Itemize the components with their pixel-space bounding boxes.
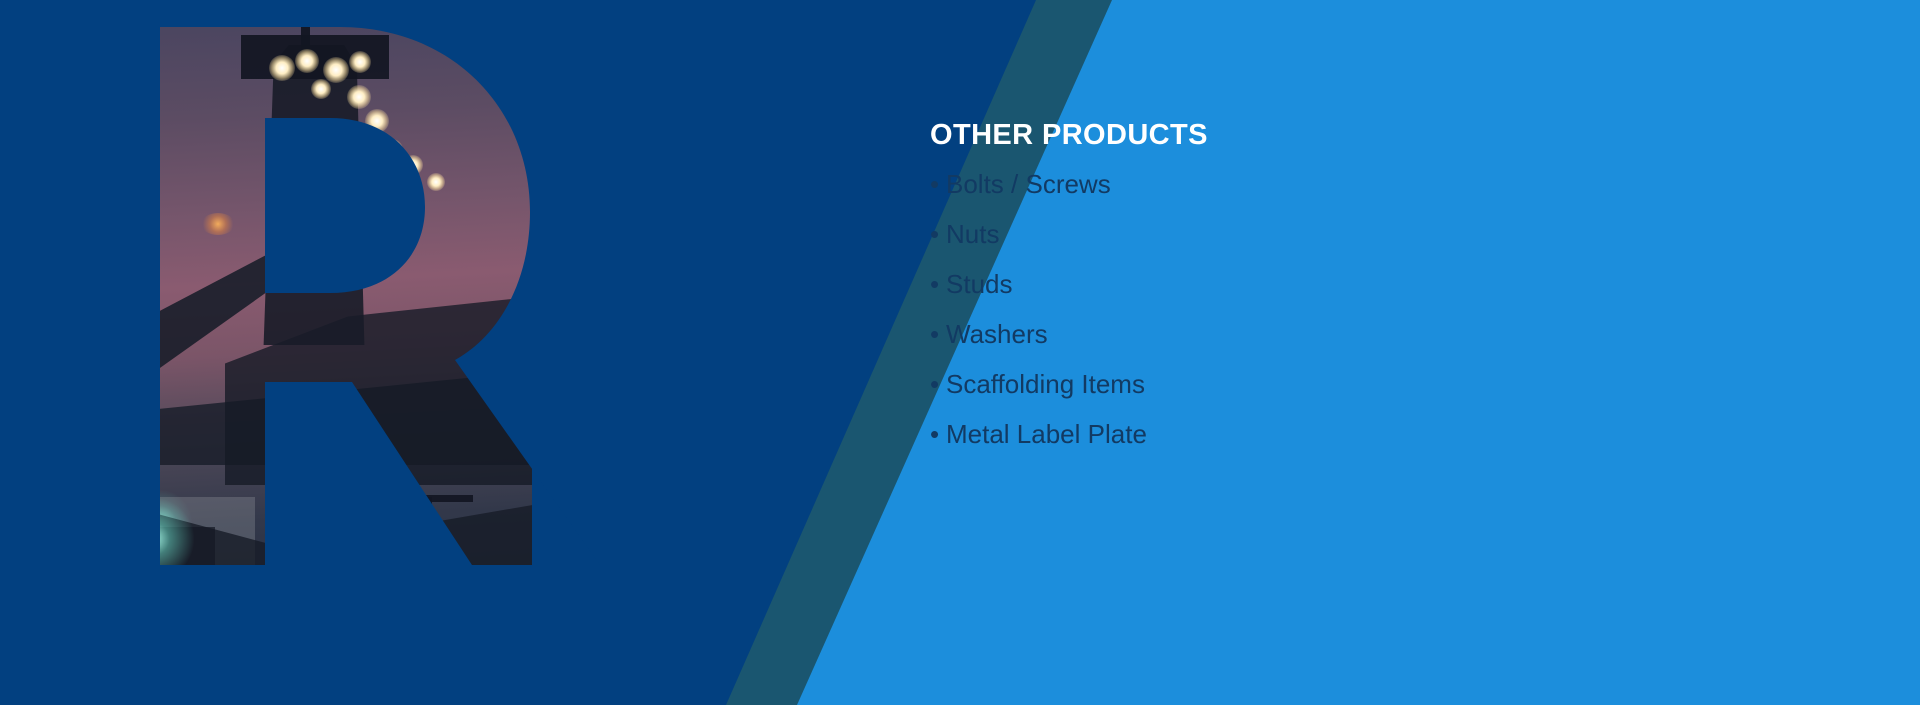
warm-glow [201, 213, 235, 235]
list-item-label: Metal Label Plate [946, 419, 1147, 449]
tower-lamp [381, 139, 403, 161]
list-item: •Metal Label Plate [930, 421, 1770, 447]
tower-lamp [359, 175, 377, 193]
list-item-label: Bolts / Screws [946, 169, 1111, 199]
bullet-icon: • [930, 221, 946, 247]
light-pole [425, 497, 432, 647]
tower-lamp [323, 57, 349, 83]
industrial-photo-panel [55, 27, 532, 705]
list-item: •Washers [930, 321, 1770, 347]
tower-lamp [427, 173, 445, 191]
list-item: •Scaffolding Items [930, 371, 1770, 397]
teal-lamp-flare [111, 497, 195, 581]
tower-lamp [269, 55, 295, 81]
tower-lamp [295, 49, 319, 73]
steel-plant-photo [55, 27, 532, 705]
bullet-icon: • [930, 171, 946, 197]
tower-lamp [403, 155, 423, 175]
list-item-label: Studs [946, 269, 1013, 299]
tower-lamp [341, 123, 361, 143]
tower-lamp [347, 85, 371, 109]
warm-glow [443, 583, 529, 655]
list-item-label: Scaffolding Items [946, 369, 1145, 399]
list-item: •Studs [930, 271, 1770, 297]
other-products-banner: OTHER PRODUCTS •Bolts / Screws •Nuts •St… [0, 0, 1920, 705]
list-item: •Nuts [930, 221, 1770, 247]
products-content: OTHER PRODUCTS •Bolts / Screws •Nuts •St… [930, 118, 1770, 471]
bullet-icon: • [930, 421, 946, 447]
bullet-icon: • [930, 371, 946, 397]
tower-lamp [349, 51, 371, 73]
list-item: •Bolts / Screws [930, 171, 1770, 197]
bullet-icon: • [930, 321, 946, 347]
warm-glow [67, 619, 157, 677]
list-item-label: Washers [946, 319, 1048, 349]
page-title: OTHER PRODUCTS [930, 118, 1770, 153]
list-item-label: Nuts [946, 219, 999, 249]
bullet-icon: • [930, 271, 946, 297]
tower-lamp [365, 109, 389, 133]
product-list: •Bolts / Screws •Nuts •Studs •Washers •S… [930, 171, 1770, 447]
tower-lamp [311, 79, 331, 99]
